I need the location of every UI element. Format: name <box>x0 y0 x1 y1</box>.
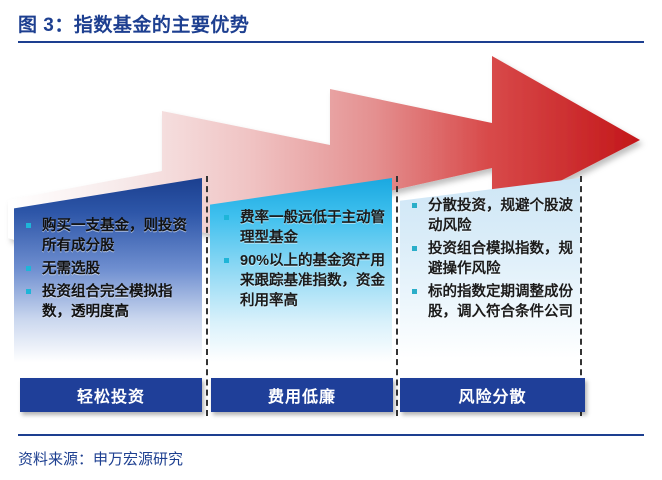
bullet-text: 无需选股 <box>42 261 100 277</box>
bullet-text: 标的指数定期调整成份股，调入符合条件公司 <box>428 284 573 320</box>
column-label-bar-2: 费用低廉 <box>211 378 393 412</box>
source-note: 资料来源：申万宏源研究 <box>18 448 183 469</box>
footer-divider-rule <box>18 434 644 436</box>
bullet-text: 90%以上的基金资产用来跟踪基准指数，资金利用率高 <box>240 253 385 309</box>
list-item: 分散投资，规避个股波动风险 <box>406 196 576 236</box>
advantage-column-3: 分散投资，规避个股波动风险 投资组合模拟指数，规避操作风险 标的指数定期调整成份… <box>400 178 580 368</box>
column-divider-1 <box>206 176 208 416</box>
list-item: 标的指数定期调整成份股，调入符合条件公司 <box>406 282 576 322</box>
title-divider-rule <box>18 41 644 43</box>
column-divider-2 <box>396 176 398 416</box>
list-item: 购买一支基金，则投资所有成分股 <box>20 216 196 256</box>
bullet-text: 投资组合完全模拟指数，透明度高 <box>42 284 173 320</box>
bullet-text: 购买一支基金，则投资所有成分股 <box>42 218 187 254</box>
advantage-column-2: 费率一般远低于主动管理型基金 90%以上的基金资产用来跟踪基准指数，资金利用率高 <box>210 178 392 368</box>
bullet-dot-icon <box>412 289 417 294</box>
bullet-dot-icon <box>224 258 229 263</box>
bullet-text: 费率一般远低于主动管理型基金 <box>240 210 385 246</box>
bullet-text: 投资组合模拟指数，规避操作风险 <box>428 241 573 277</box>
list-item: 投资组合模拟指数，规避操作风险 <box>406 239 576 279</box>
column-label-bar-3: 风险分散 <box>400 378 585 412</box>
list-item: 无需选股 <box>20 259 196 279</box>
bullet-dot-icon <box>26 289 31 294</box>
advantage-column-1: 购买一支基金，则投资所有成分股 无需选股 投资组合完全模拟指数，透明度高 <box>14 178 202 368</box>
figure-stage: 购买一支基金，则投资所有成分股 无需选股 投资组合完全模拟指数，透明度高 费率一… <box>0 48 662 433</box>
list-item: 投资组合完全模拟指数，透明度高 <box>20 282 196 322</box>
bullet-dot-icon <box>412 203 417 208</box>
list-item: 费率一般远低于主动管理型基金 <box>218 208 386 248</box>
bullet-dot-icon <box>224 215 229 220</box>
column-3-bullet-list: 分散投资，规避个股波动风险 投资组合模拟指数，规避操作风险 标的指数定期调整成份… <box>400 178 580 322</box>
page-title: 图 3：指数基金的主要优势 <box>18 10 249 37</box>
column-2-bullet-list: 费率一般远低于主动管理型基金 90%以上的基金资产用来跟踪基准指数，资金利用率高 <box>210 178 392 311</box>
column-label-bar-1: 轻松投资 <box>20 378 202 412</box>
bullet-text: 分散投资，规避个股波动风险 <box>428 198 573 234</box>
column-1-bullet-list: 购买一支基金，则投资所有成分股 无需选股 投资组合完全模拟指数，透明度高 <box>14 178 202 322</box>
bullet-dot-icon <box>412 246 417 251</box>
bullet-dot-icon <box>26 223 31 228</box>
list-item: 90%以上的基金资产用来跟踪基准指数，资金利用率高 <box>218 251 386 311</box>
bullet-dot-icon <box>26 266 31 271</box>
